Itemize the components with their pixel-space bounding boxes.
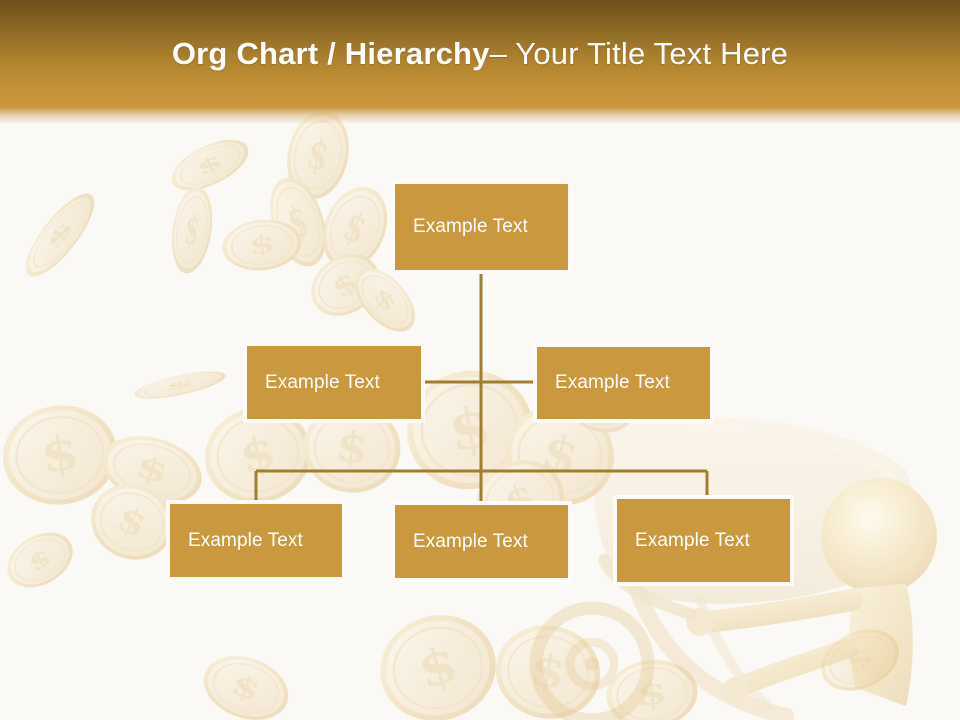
org-node-label: Example Text: [617, 530, 750, 552]
org-node-label: Example Text: [395, 216, 528, 238]
page-title-strong: Org Chart / Hierarchy: [172, 36, 490, 72]
org-node-label: Example Text: [247, 372, 380, 394]
org-node-level2-left[interactable]: Example Text: [166, 500, 346, 581]
slide-canvas: $: [0, 0, 960, 720]
org-node-label: Example Text: [170, 530, 303, 552]
title-banner-fade: [0, 108, 960, 124]
org-node-level1-right[interactable]: Example Text: [533, 343, 714, 423]
org-node-label: Example Text: [537, 372, 670, 394]
org-node-root[interactable]: Example Text: [391, 180, 572, 274]
org-node-level1-left[interactable]: Example Text: [243, 342, 425, 423]
org-node-level2-middle[interactable]: Example Text: [391, 501, 572, 582]
org-node-level2-right[interactable]: Example Text: [613, 495, 794, 586]
org-node-label: Example Text: [395, 531, 528, 553]
page-title: Org Chart / Hierarchy – Your Title Text …: [0, 0, 960, 108]
page-title-rest: – Your Title Text Here: [490, 36, 789, 72]
